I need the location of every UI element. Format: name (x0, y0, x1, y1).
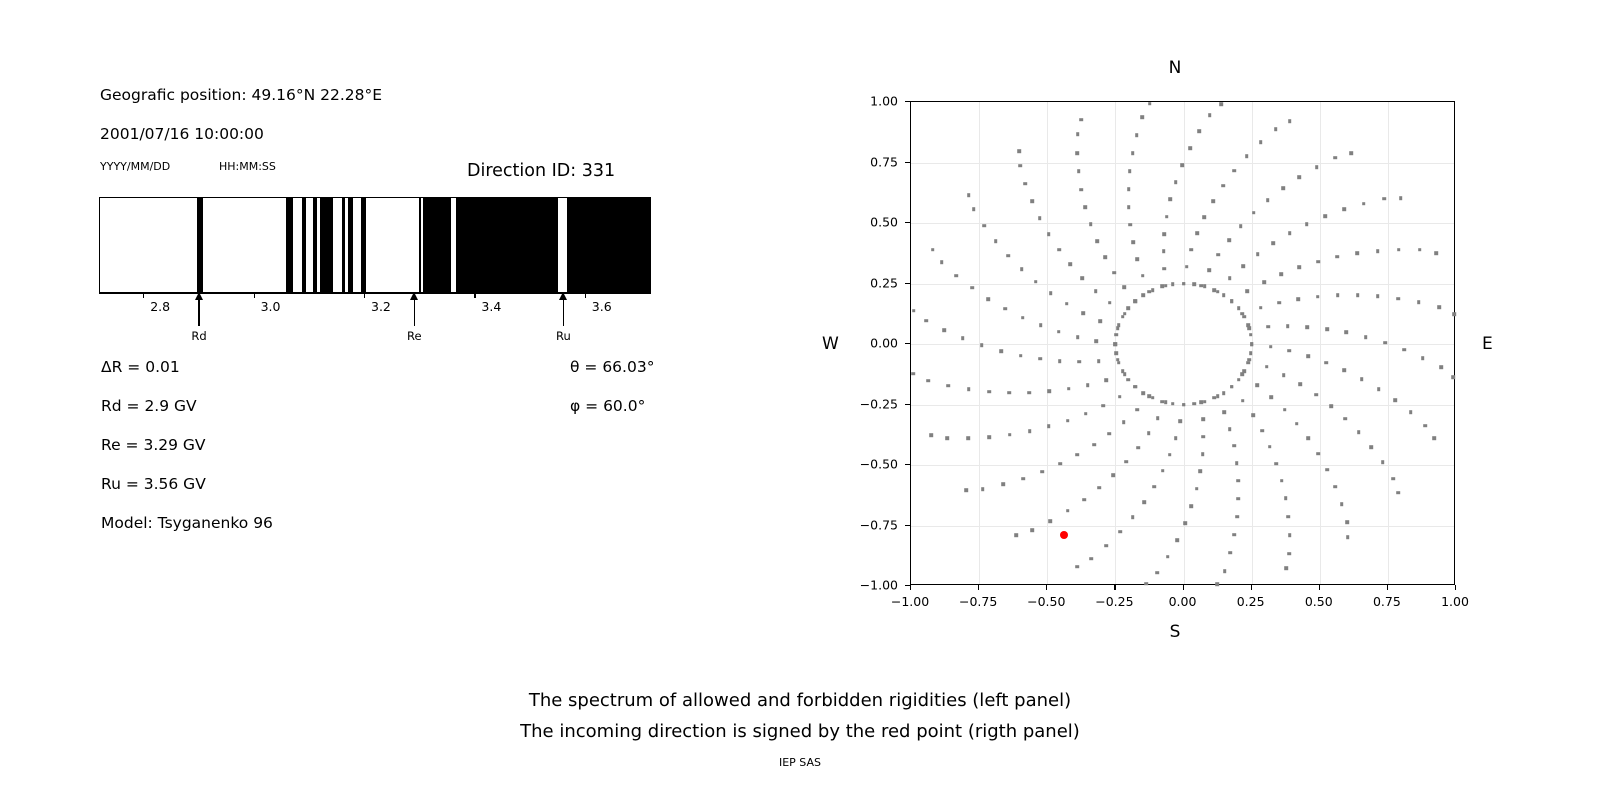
direction-point (1402, 348, 1406, 352)
direction-point (1216, 395, 1220, 399)
direction-point (1095, 239, 1099, 243)
forbidden-band (419, 198, 422, 292)
direction-point (1151, 288, 1155, 292)
direction-point (946, 436, 950, 440)
direction-point (1019, 354, 1023, 358)
direction-point (1084, 412, 1088, 416)
direction-point (1057, 248, 1061, 252)
direction-scatter-plot (910, 101, 1455, 585)
direction-point (1230, 299, 1234, 303)
direction-point (1171, 282, 1175, 286)
direction-point (1437, 306, 1441, 310)
spectrum-tick (254, 293, 255, 298)
direction-point (1377, 387, 1381, 391)
direction-point (1065, 302, 1069, 306)
direction-point (1280, 479, 1284, 483)
y-tick-label: 0.50 (870, 215, 898, 230)
direction-point (1168, 453, 1172, 457)
direction-point (1397, 491, 1401, 495)
y-tickmark (905, 464, 910, 465)
direction-point (1215, 582, 1219, 586)
direction-point (1424, 424, 1428, 428)
x-tick-label: −0.25 (1095, 594, 1133, 609)
direction-point (981, 487, 985, 491)
direction-point (1134, 385, 1138, 389)
direction-point (1161, 285, 1165, 289)
compass-label-north: N (1169, 58, 1182, 78)
direction-point (1089, 223, 1093, 227)
direction-point (1038, 216, 1042, 220)
direction-point (1030, 529, 1034, 533)
direction-point (1077, 170, 1081, 174)
direction-point (1203, 400, 1207, 404)
direction-point (1135, 133, 1139, 137)
direction-point (1433, 436, 1437, 440)
direction-point (1058, 462, 1062, 466)
direction-point (1381, 461, 1385, 465)
direction-point (1223, 569, 1227, 573)
direction-point (1223, 411, 1227, 415)
direction-point (1256, 383, 1260, 387)
direction-point (1136, 446, 1140, 450)
direction-point (1296, 297, 1300, 301)
direction-point (1018, 164, 1022, 168)
direction-point (967, 436, 971, 440)
date-format-hint: YYYY/MM/DD (100, 160, 170, 173)
direction-point (1356, 252, 1360, 256)
direction-point (1265, 365, 1269, 369)
x-tickmark (1251, 585, 1252, 590)
direction-point (1246, 289, 1250, 293)
gridline-horizontal (911, 344, 1454, 345)
x-tickmark (1046, 585, 1047, 590)
direction-point (1030, 200, 1034, 204)
direction-point (987, 297, 991, 301)
caption-line-1: The spectrum of allowed and forbidden ri… (0, 685, 1600, 716)
x-tickmark (1455, 585, 1456, 590)
direction-point (1227, 238, 1231, 242)
arrow-head-icon (195, 292, 203, 300)
direction-point (1286, 324, 1290, 328)
direction-point (1105, 544, 1109, 548)
direction-point (929, 433, 933, 437)
direction-point (1288, 552, 1292, 556)
direction-point (1076, 132, 1080, 136)
direction-point (1142, 500, 1146, 504)
time-format-hint: HH:MM:SS (219, 160, 276, 173)
direction-point (1067, 387, 1071, 391)
direction-point (955, 274, 959, 278)
direction-point (999, 349, 1003, 353)
direction-point (1048, 519, 1052, 523)
direction-point (1298, 266, 1302, 270)
direction-point (1208, 113, 1212, 117)
direction-point (1108, 301, 1112, 305)
direction-point (1117, 361, 1121, 365)
direction-point (1364, 335, 1368, 339)
direction-point (1323, 215, 1327, 219)
direction-point (1024, 182, 1028, 186)
direction-point (1233, 533, 1237, 537)
direction-point (1245, 154, 1249, 158)
direction-point (1397, 248, 1401, 252)
direction-point (1202, 435, 1206, 439)
direction-point (1117, 324, 1121, 328)
direction-point (1114, 352, 1118, 356)
direction-point (1192, 402, 1196, 406)
compass-label-east: E (1482, 334, 1493, 354)
gridline-vertical (1047, 102, 1048, 584)
direction-point (1195, 232, 1199, 236)
y-tick-label: −1.00 (860, 578, 898, 593)
direction-point (940, 260, 944, 264)
direction-point (1134, 299, 1138, 303)
gridline-horizontal (911, 465, 1454, 466)
direction-point (1049, 291, 1053, 295)
direction-point (1162, 267, 1166, 271)
caption-line-2: The incoming direction is signed by the … (0, 716, 1600, 747)
direction-point (1246, 324, 1250, 328)
direction-point (1164, 284, 1168, 288)
direction-point (987, 390, 991, 394)
direction-point (1230, 385, 1234, 389)
y-tick-label: −0.25 (860, 396, 898, 411)
direction-point (1131, 516, 1135, 520)
x-tick-label: −0.75 (959, 594, 997, 609)
direction-point (1235, 515, 1239, 519)
direction-point (1452, 312, 1456, 316)
direction-point (1336, 294, 1340, 298)
direction-point (1103, 255, 1107, 259)
direction-point (1434, 251, 1438, 255)
direction-point (1163, 232, 1167, 236)
param-re: Re = 3.29 GV (101, 436, 206, 454)
direction-point (1008, 391, 1012, 395)
direction-point (1266, 198, 1270, 202)
direction-point (1279, 273, 1283, 277)
direction-point (1249, 333, 1253, 337)
direction-point (1038, 357, 1042, 361)
direction-point (1242, 315, 1246, 319)
direction-point (1286, 515, 1290, 519)
direction-point (1232, 444, 1236, 448)
direction-point (1298, 175, 1302, 179)
x-tick-label: 1.00 (1441, 594, 1469, 609)
direction-point (1017, 149, 1021, 153)
direction-point (1174, 180, 1178, 184)
direction-point (1284, 497, 1288, 501)
direction-point (961, 336, 965, 340)
direction-point (1086, 383, 1090, 387)
spectrum-tick (364, 293, 365, 298)
x-tick-label: −1.00 (891, 594, 929, 609)
y-tick-label: 0.00 (870, 336, 898, 351)
y-tick-label: 0.75 (870, 154, 898, 169)
direction-point (987, 435, 991, 439)
y-tick-label: 0.25 (870, 275, 898, 290)
axis-line (99, 293, 651, 294)
footer-text: IEP SAS (0, 756, 1600, 769)
compass-label-west: W (822, 334, 839, 354)
direction-point (1171, 402, 1175, 406)
direction-point (1135, 408, 1139, 412)
direction-point (1241, 399, 1245, 403)
y-tick-label: −0.50 (860, 457, 898, 472)
direction-point (1077, 360, 1081, 364)
direction-point (1357, 431, 1361, 435)
direction-point (1421, 356, 1425, 360)
direction-point (1183, 521, 1187, 525)
direction-point (1281, 186, 1285, 190)
direction-point (1076, 335, 1080, 339)
forbidden-band (567, 198, 651, 292)
y-tickmark (905, 162, 910, 163)
direction-point (1399, 196, 1403, 200)
direction-point (1237, 497, 1241, 501)
direction-point (1228, 551, 1232, 555)
direction-point (1021, 477, 1025, 481)
direction-point (1198, 470, 1202, 474)
forbidden-band (286, 198, 293, 292)
direction-point (1343, 368, 1347, 372)
direction-point (1174, 436, 1178, 440)
spectrum-tick-label: 3.4 (481, 299, 501, 314)
direction-point (1028, 429, 1032, 433)
direction-point (1219, 103, 1223, 107)
direction-point (1127, 205, 1131, 209)
spectrum-tick-label: 3.6 (592, 299, 612, 314)
direction-point (1316, 295, 1320, 299)
direction-point (967, 193, 971, 197)
gridline-vertical (1388, 102, 1389, 584)
direction-point (1275, 462, 1279, 466)
direction-point (1076, 565, 1080, 569)
direction-point (1393, 398, 1397, 402)
param-delta-r: ΔR = 0.01 (101, 358, 180, 376)
direction-point (926, 379, 930, 383)
y-tickmark (905, 343, 910, 344)
direction-point (1376, 249, 1380, 253)
direction-point (1162, 250, 1166, 254)
incoming-direction-point[interactable] (1060, 531, 1068, 539)
direction-point (1040, 470, 1044, 474)
direction-point (1135, 257, 1139, 261)
direction-point (1242, 370, 1246, 374)
direction-point (1382, 197, 1386, 201)
direction-point (1237, 378, 1241, 382)
direction-point (1164, 401, 1168, 405)
x-tick-label: 0.25 (1237, 594, 1265, 609)
direction-point (1345, 520, 1349, 524)
direction-point (1118, 395, 1122, 399)
direction-point (924, 319, 928, 323)
direction-point (1152, 485, 1156, 489)
direction-point (1066, 509, 1070, 513)
direction-point (1094, 289, 1098, 293)
direction-point (1383, 341, 1387, 345)
direction-point (1288, 232, 1292, 236)
direction-point (1251, 414, 1255, 418)
spectrum-tick-label: 3.0 (261, 299, 281, 314)
direction-point (1288, 119, 1292, 123)
spectrum-axis: 2.83.03.23.43.6RdReRu (99, 293, 651, 353)
direction-point (1192, 282, 1196, 286)
direction-point (1452, 376, 1456, 380)
direction-point (1122, 285, 1126, 289)
spectrum-tick (585, 293, 586, 298)
direction-point (1325, 327, 1329, 331)
arrow-head-icon (410, 292, 418, 300)
direction-point (1039, 324, 1043, 328)
direction-point (1356, 293, 1360, 297)
direction-point (1140, 115, 1144, 119)
direction-point (1306, 325, 1310, 329)
direction-point (1097, 360, 1101, 364)
direction-point (1283, 408, 1287, 412)
gridline-horizontal (911, 223, 1454, 224)
direction-point (1325, 361, 1329, 365)
direction-point (1271, 242, 1275, 246)
direction-point (1131, 151, 1135, 155)
direction-point (1306, 354, 1310, 358)
direction-point (1249, 352, 1253, 356)
direction-point (972, 208, 976, 212)
direction-point (1213, 288, 1217, 292)
direction-point (1207, 268, 1211, 272)
spectrum-bar (99, 197, 651, 293)
direction-point (1342, 208, 1346, 212)
direction-point (1409, 411, 1413, 415)
direction-point (1396, 297, 1400, 301)
spectrum-tick (474, 293, 475, 298)
forbidden-band (197, 198, 203, 292)
direction-point (1189, 248, 1193, 252)
forbidden-band (302, 198, 306, 292)
direction-point (1128, 223, 1132, 227)
direction-point (1329, 405, 1333, 409)
x-tickmark (1319, 585, 1320, 590)
compass-label-south: S (1170, 622, 1181, 642)
direction-point (1003, 307, 1007, 311)
direction-point (1090, 557, 1094, 561)
direction-point (947, 384, 951, 388)
direction-point (1274, 127, 1278, 131)
direction-point (1161, 469, 1165, 473)
direction-point (1228, 277, 1232, 281)
direction-point (1118, 530, 1122, 534)
direction-point (1345, 331, 1349, 335)
direction-point (1418, 248, 1422, 252)
direction-point (1288, 533, 1292, 537)
direction-point (1142, 391, 1146, 395)
y-tick-label: 1.00 (870, 94, 898, 109)
direction-point (1175, 538, 1179, 542)
direction-point (1360, 377, 1364, 381)
direction-point (1142, 293, 1146, 297)
x-tickmark (1183, 585, 1184, 590)
direction-point (1269, 345, 1273, 349)
left-panel: Geografic position: 49.16°N 22.28°E 2001… (0, 0, 760, 660)
direction-point (1256, 252, 1260, 256)
direction-point (1147, 431, 1151, 435)
param-ru: Ru = 3.56 GV (101, 475, 206, 493)
direction-point (1098, 319, 1102, 323)
direction-point (1362, 202, 1366, 206)
forbidden-band (348, 198, 352, 292)
direction-point (1108, 432, 1112, 436)
direction-point (1180, 163, 1184, 167)
forbidden-band (342, 198, 345, 292)
direction-point (1124, 460, 1128, 464)
direction-point (1144, 582, 1148, 586)
direction-point (1284, 566, 1288, 570)
direction-point (1340, 502, 1344, 506)
direction-point (1021, 316, 1025, 320)
forbidden-band (423, 198, 451, 292)
direction-point (1121, 370, 1125, 374)
gridline-vertical (1184, 102, 1185, 584)
direction-point (1262, 280, 1266, 284)
direction-point (1221, 184, 1225, 188)
direction-point (982, 224, 986, 228)
direction-point (1295, 422, 1299, 426)
direction-point (1047, 425, 1051, 429)
direction-point (1058, 359, 1062, 363)
spectrum-tick-label: 3.2 (371, 299, 391, 314)
forbidden-band (361, 198, 365, 292)
direction-point (1156, 416, 1160, 420)
direction-point (1084, 205, 1088, 209)
direction-point (1325, 468, 1329, 472)
direction-point (1047, 233, 1051, 237)
direction-point (1076, 453, 1080, 457)
direction-point (1211, 199, 1215, 203)
marker-label-rd: Rd (191, 329, 206, 343)
x-tick-label: −0.50 (1027, 594, 1065, 609)
direction-point (1121, 315, 1125, 319)
param-phi: φ = 60.0° (570, 397, 645, 415)
direction-point (1201, 452, 1205, 456)
direction-point (1020, 267, 1024, 271)
x-tick-label: 0.00 (1169, 594, 1197, 609)
direction-point (1101, 404, 1105, 408)
x-tickmark (1114, 585, 1115, 590)
direction-point (1081, 311, 1085, 315)
direction-point (942, 328, 946, 332)
direction-point (1316, 260, 1320, 264)
direction-point (1068, 263, 1072, 267)
direction-point (1252, 211, 1256, 215)
direction-point (1122, 420, 1126, 424)
direction-point (1237, 479, 1241, 483)
direction-point (912, 309, 916, 313)
direction-point (1169, 197, 1173, 201)
direction-point (1066, 419, 1070, 423)
direction-point (1006, 254, 1010, 258)
direction-point (967, 387, 971, 391)
direction-point (1201, 418, 1205, 422)
y-tickmark (905, 222, 910, 223)
direction-point (1222, 391, 1226, 395)
direction-point (1092, 443, 1096, 447)
direction-point (1314, 393, 1318, 397)
x-tickmark (1387, 585, 1388, 590)
direction-point (994, 239, 998, 243)
direction-point (1270, 395, 1274, 399)
direction-point (1235, 461, 1239, 465)
direction-point (1315, 165, 1319, 169)
geographic-position-text: Geografic position: 49.16°N 22.28°E (100, 86, 382, 104)
